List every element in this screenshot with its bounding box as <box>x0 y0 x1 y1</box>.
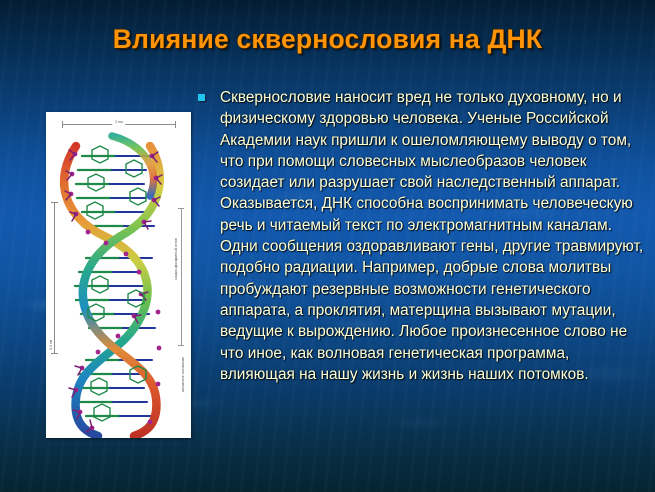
bullet-text: Сквернословие наносит вред не только дух… <box>220 87 646 385</box>
dna-figure-panel: 2 нм 3,4 нм сахаро-фосфатный остов азоти… <box>46 112 191 438</box>
slide-title: Влияние сквернословия на ДНК <box>0 24 655 55</box>
dna-width-label: 2 нм <box>112 119 125 125</box>
dna-width-dimension: 2 нм <box>62 121 176 128</box>
dna-base-ring-outlines <box>87 146 146 421</box>
bullet-item: Сквернословие наносит вред не только дух… <box>198 87 646 385</box>
square-bullet-icon <box>198 94 205 101</box>
dna-pitch-dimension <box>51 202 58 354</box>
dna-figure-image: 2 нм 3,4 нм сахаро-фосфатный остов азоти… <box>46 112 191 438</box>
dna-double-helix-svg <box>46 112 191 438</box>
dna-side-dimension <box>178 208 184 346</box>
slide-body: Сквернословие наносит вред не только дух… <box>198 87 646 385</box>
presentation-slide: Влияние сквернословия на ДНК <box>0 0 655 492</box>
dna-pitch-label: 3,4 нм <box>50 340 54 350</box>
dna-side-label-backbone: сахаро-фосфатный остов <box>175 238 179 280</box>
dna-side-label-bases: азотистые основания <box>182 357 186 392</box>
